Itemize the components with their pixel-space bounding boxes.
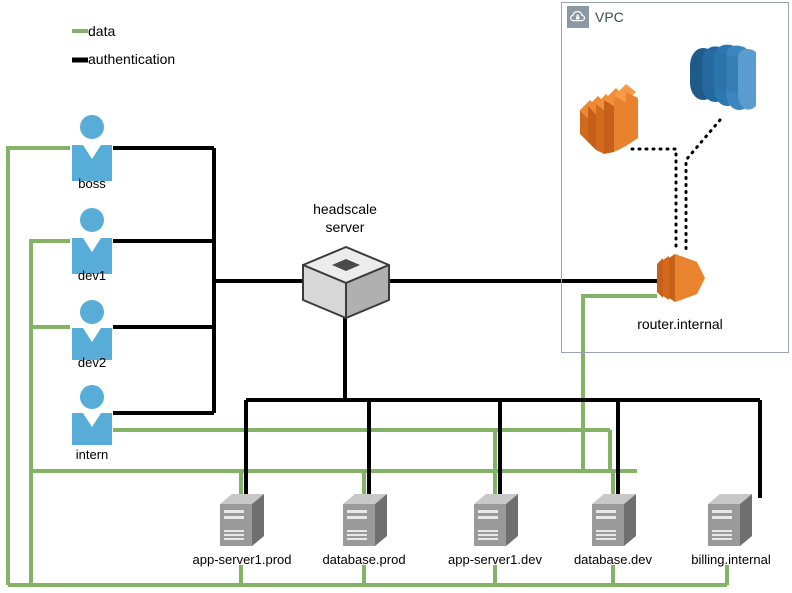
user-label-boss: boss [40,176,144,191]
server-node-database-dev[interactable] [590,492,638,553]
aws-compute-stack-icon [578,72,640,154]
aws-database-node[interactable] [684,42,764,135]
server-node-app-server1-dev[interactable] [472,492,520,553]
server-label-database-dev: database.dev [561,552,665,567]
aws-router-icon [653,250,709,306]
headscale-label-line1: headscale [292,200,398,218]
user-node-intern[interactable] [70,385,114,450]
vpc-title: VPC [595,9,624,25]
headscale-server-node[interactable] [300,245,392,326]
server-cube-icon [300,245,392,321]
vpc-header: VPC [562,3,624,30]
server-label-app-server1-dev: app-server1.dev [438,552,552,567]
aws-compute-node[interactable] [578,72,640,159]
server-label-app-server1-prod: app-server1.prod [181,552,303,567]
legend-label-data: data [88,23,115,39]
user-label-intern: intern [40,447,144,462]
server-label-database-prod: database.prod [309,552,419,567]
user-label-dev1: dev1 [40,268,144,283]
server-node-database-prod[interactable] [341,492,389,553]
user-label-dev2: dev2 [40,355,144,370]
vpc-cloud-lock-icon [567,6,589,28]
legend-label-authentication: authentication [88,51,175,67]
server-node-billing-internal[interactable] [706,492,754,553]
user-icon [70,115,114,181]
server-icon [218,492,266,548]
user-icon [70,208,114,274]
router-internal-node[interactable] [653,250,709,311]
server-icon [590,492,638,548]
user-icon [70,300,114,360]
user-icon [70,385,114,445]
diagram-canvas: data authentication boss dev1 dev2 [0,0,792,593]
server-label-billing-internal: billing.internal [676,552,786,567]
server-node-app-server1-prod[interactable] [218,492,266,553]
server-icon [472,492,520,548]
server-icon [341,492,389,548]
headscale-label-line2: server [292,218,398,236]
server-icon [706,492,754,548]
router-internal-label: router.internal [600,317,760,332]
aws-database-stack-icon [684,42,764,130]
